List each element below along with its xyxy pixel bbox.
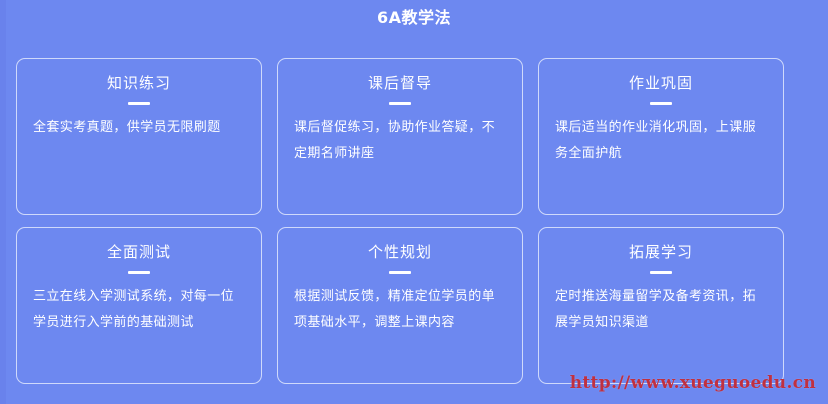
card-body: 课后适当的作业消化巩固，上课服务全面护航 — [553, 115, 769, 167]
title-divider — [128, 102, 150, 105]
card-title: 拓展学习 — [553, 242, 769, 262]
infographic-canvas: 6A教学法 知识练习 全套实考真题，供学员无限刷题 课后督导 课后督促练习，协助… — [0, 0, 828, 404]
card-title: 作业巩固 — [553, 73, 769, 93]
card-body: 根据测试反馈，精准定位学员的单项基础水平，调整上课内容 — [292, 284, 508, 336]
title-divider — [128, 271, 150, 274]
card-grid: 知识练习 全套实考真题，供学员无限刷题 课后督导 课后督促练习，协助作业答疑，不… — [16, 58, 784, 384]
card-title: 课后督导 — [292, 73, 508, 93]
card-comprehensive-test[interactable]: 全面测试 三立在线入学测试系统，对每一位学员进行入学前的基础测试 — [16, 227, 262, 384]
card-body: 三立在线入学测试系统，对每一位学员进行入学前的基础测试 — [31, 284, 247, 336]
title-divider — [389, 271, 411, 274]
card-body: 课后督促练习，协助作业答疑，不定期名师讲座 — [292, 115, 508, 167]
card-homework-consolidation[interactable]: 作业巩固 课后适当的作业消化巩固，上课服务全面护航 — [538, 58, 784, 215]
title-divider — [650, 271, 672, 274]
card-after-class-supervision[interactable]: 课后督导 课后督促练习，协助作业答疑，不定期名师讲座 — [277, 58, 523, 215]
title-divider — [650, 102, 672, 105]
card-extended-learning[interactable]: 拓展学习 定时推送海量留学及备考资讯，拓展学员知识渠道 — [538, 227, 784, 384]
card-body: 定时推送海量留学及备考资讯，拓展学员知识渠道 — [553, 284, 769, 336]
watermark-url: http://www.xueguoedu.cn — [570, 373, 816, 393]
card-body: 全套实考真题，供学员无限刷题 — [31, 115, 247, 141]
card-title: 个性规划 — [292, 242, 508, 262]
card-personalized-planning[interactable]: 个性规划 根据测试反馈，精准定位学员的单项基础水平，调整上课内容 — [277, 227, 523, 384]
page-title: 6A教学法 — [0, 8, 828, 28]
card-title: 全面测试 — [31, 242, 247, 262]
card-title: 知识练习 — [31, 73, 247, 93]
title-divider — [389, 102, 411, 105]
card-knowledge-practice[interactable]: 知识练习 全套实考真题，供学员无限刷题 — [16, 58, 262, 215]
